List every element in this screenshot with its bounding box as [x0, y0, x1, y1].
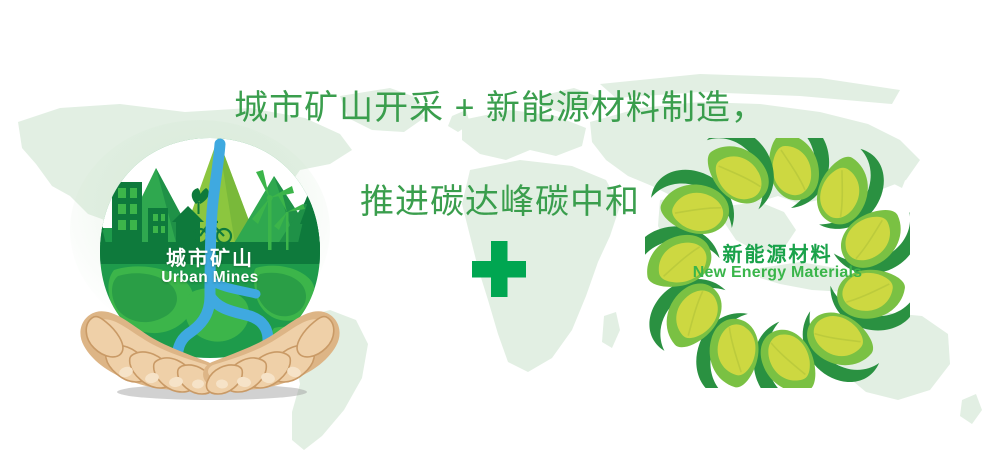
- plus-icon: [466, 236, 532, 302]
- page-title-line-2: 推进碳达峰碳中和: [0, 179, 1000, 226]
- page-title-line-1: 城市矿山开采 + 新能源材料制造，: [0, 85, 1000, 132]
- poster-canvas: 城市矿山开采 + 新能源材料制造， 推进碳达峰碳中和: [0, 0, 1000, 460]
